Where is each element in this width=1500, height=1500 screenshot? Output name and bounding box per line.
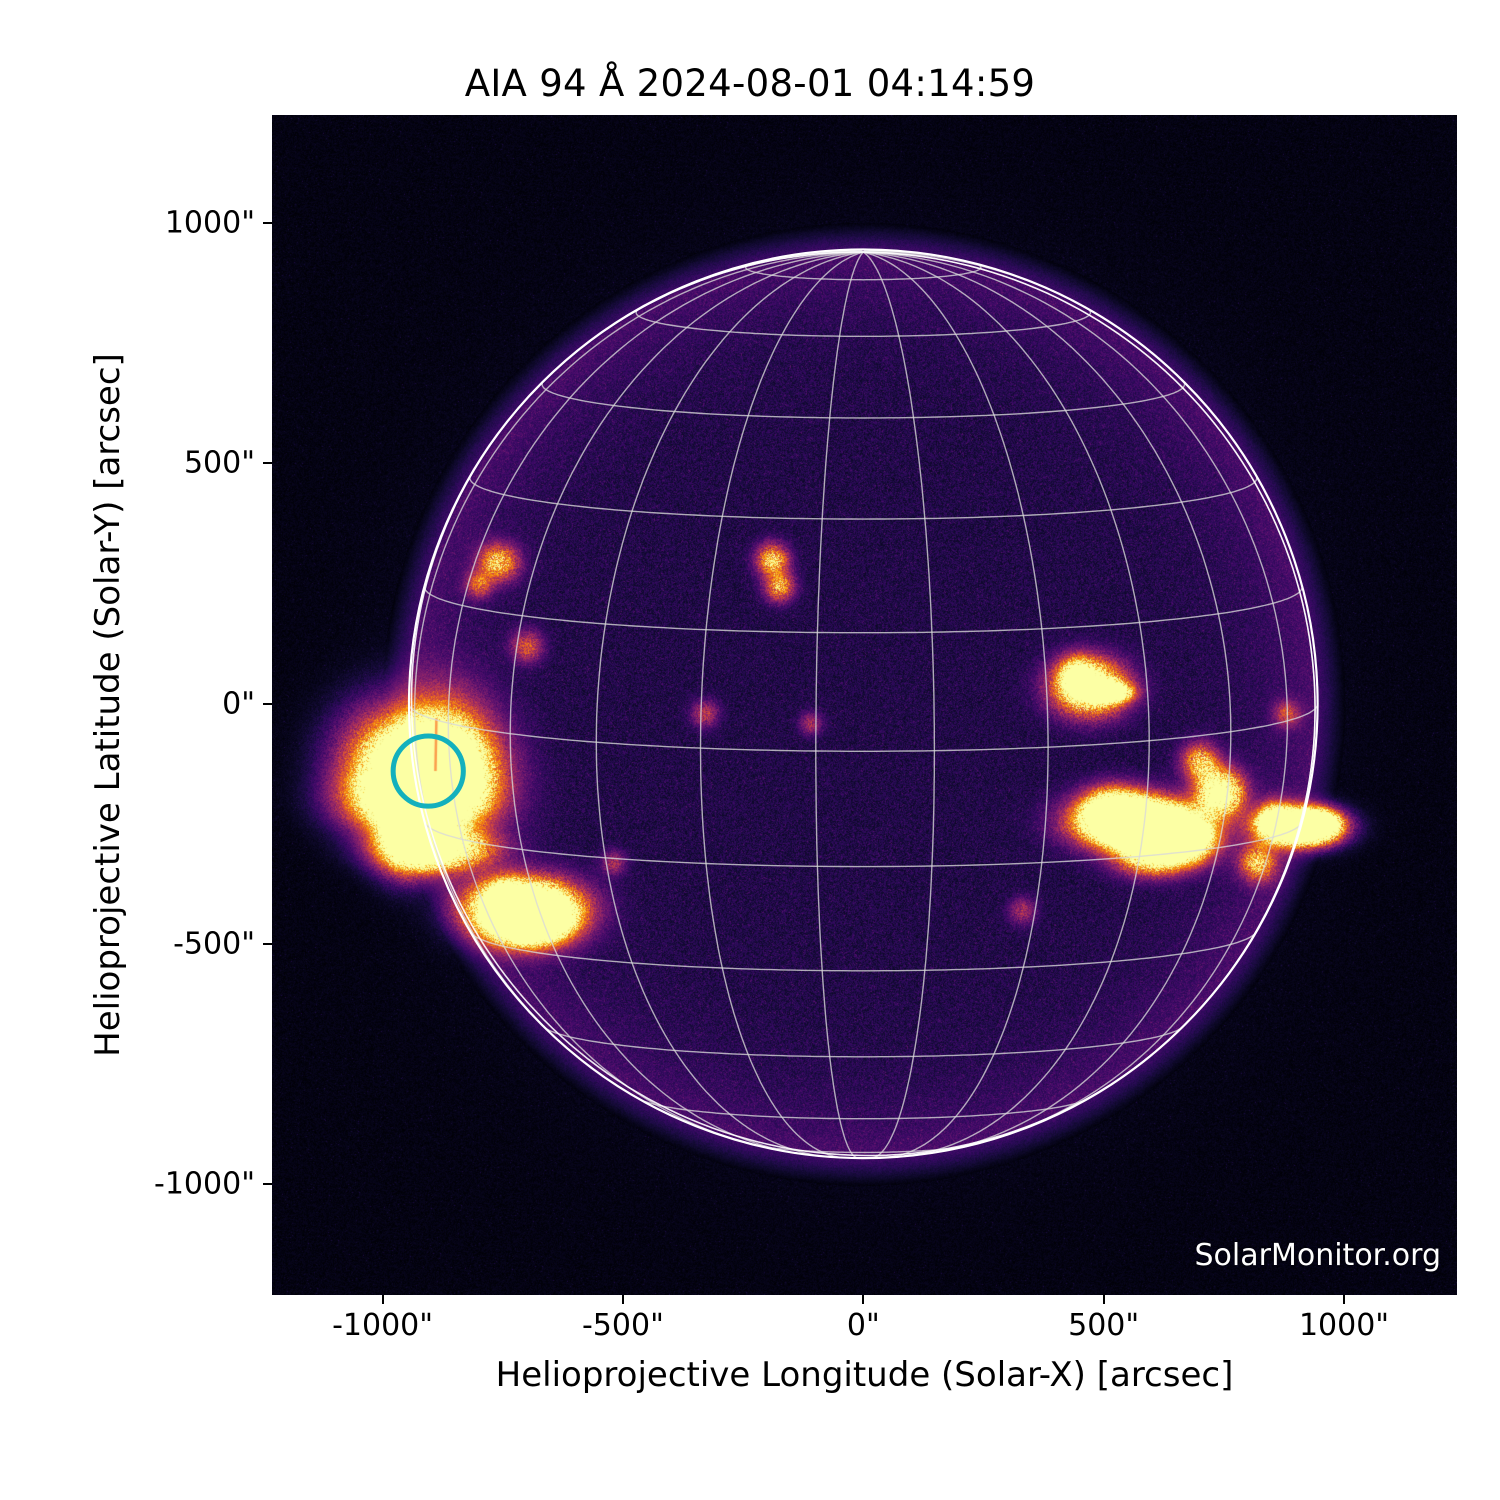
y-tick-label: 0"	[222, 686, 255, 721]
x-axis-label: Helioprojective Longitude (Solar-X) [arc…	[272, 1355, 1457, 1395]
y-tick-label: 1000"	[165, 206, 255, 241]
y-tick-mark	[263, 222, 272, 224]
x-tick-label: -1000"	[332, 1308, 433, 1343]
x-tick-label: -500"	[582, 1308, 664, 1343]
annotation-overlay	[272, 115, 1457, 1295]
x-tick-mark	[1103, 1295, 1105, 1304]
active-region-marker[interactable]	[393, 736, 463, 806]
plot-area[interactable]: SolarMonitor.org	[272, 115, 1457, 1295]
y-tick-mark	[263, 703, 272, 705]
x-tick-label: 1000"	[1299, 1308, 1389, 1343]
x-tick-label: 500"	[1068, 1308, 1139, 1343]
y-tick-label: 500"	[184, 446, 255, 481]
x-tick-mark	[1343, 1295, 1345, 1304]
x-tick-label: 0"	[847, 1308, 880, 1343]
x-tick-mark	[862, 1295, 864, 1304]
x-tick-mark	[622, 1295, 624, 1304]
y-tick-mark	[263, 1183, 272, 1185]
y-axis-label: Helioprojective Latitude (Solar-Y) [arcs…	[88, 115, 128, 1295]
solar-image-figure: AIA 94 Å 2024-08-01 04:14:59 SolarMonito…	[0, 0, 1500, 1500]
y-tick-label: -1000"	[154, 1167, 255, 1202]
y-tick-mark	[263, 943, 272, 945]
x-tick-mark	[382, 1295, 384, 1304]
y-tick-mark	[263, 462, 272, 464]
y-tick-label: -500"	[173, 927, 255, 962]
watermark-label: SolarMonitor.org	[1195, 1238, 1441, 1273]
page-title: AIA 94 Å 2024-08-01 04:14:59	[0, 62, 1500, 105]
